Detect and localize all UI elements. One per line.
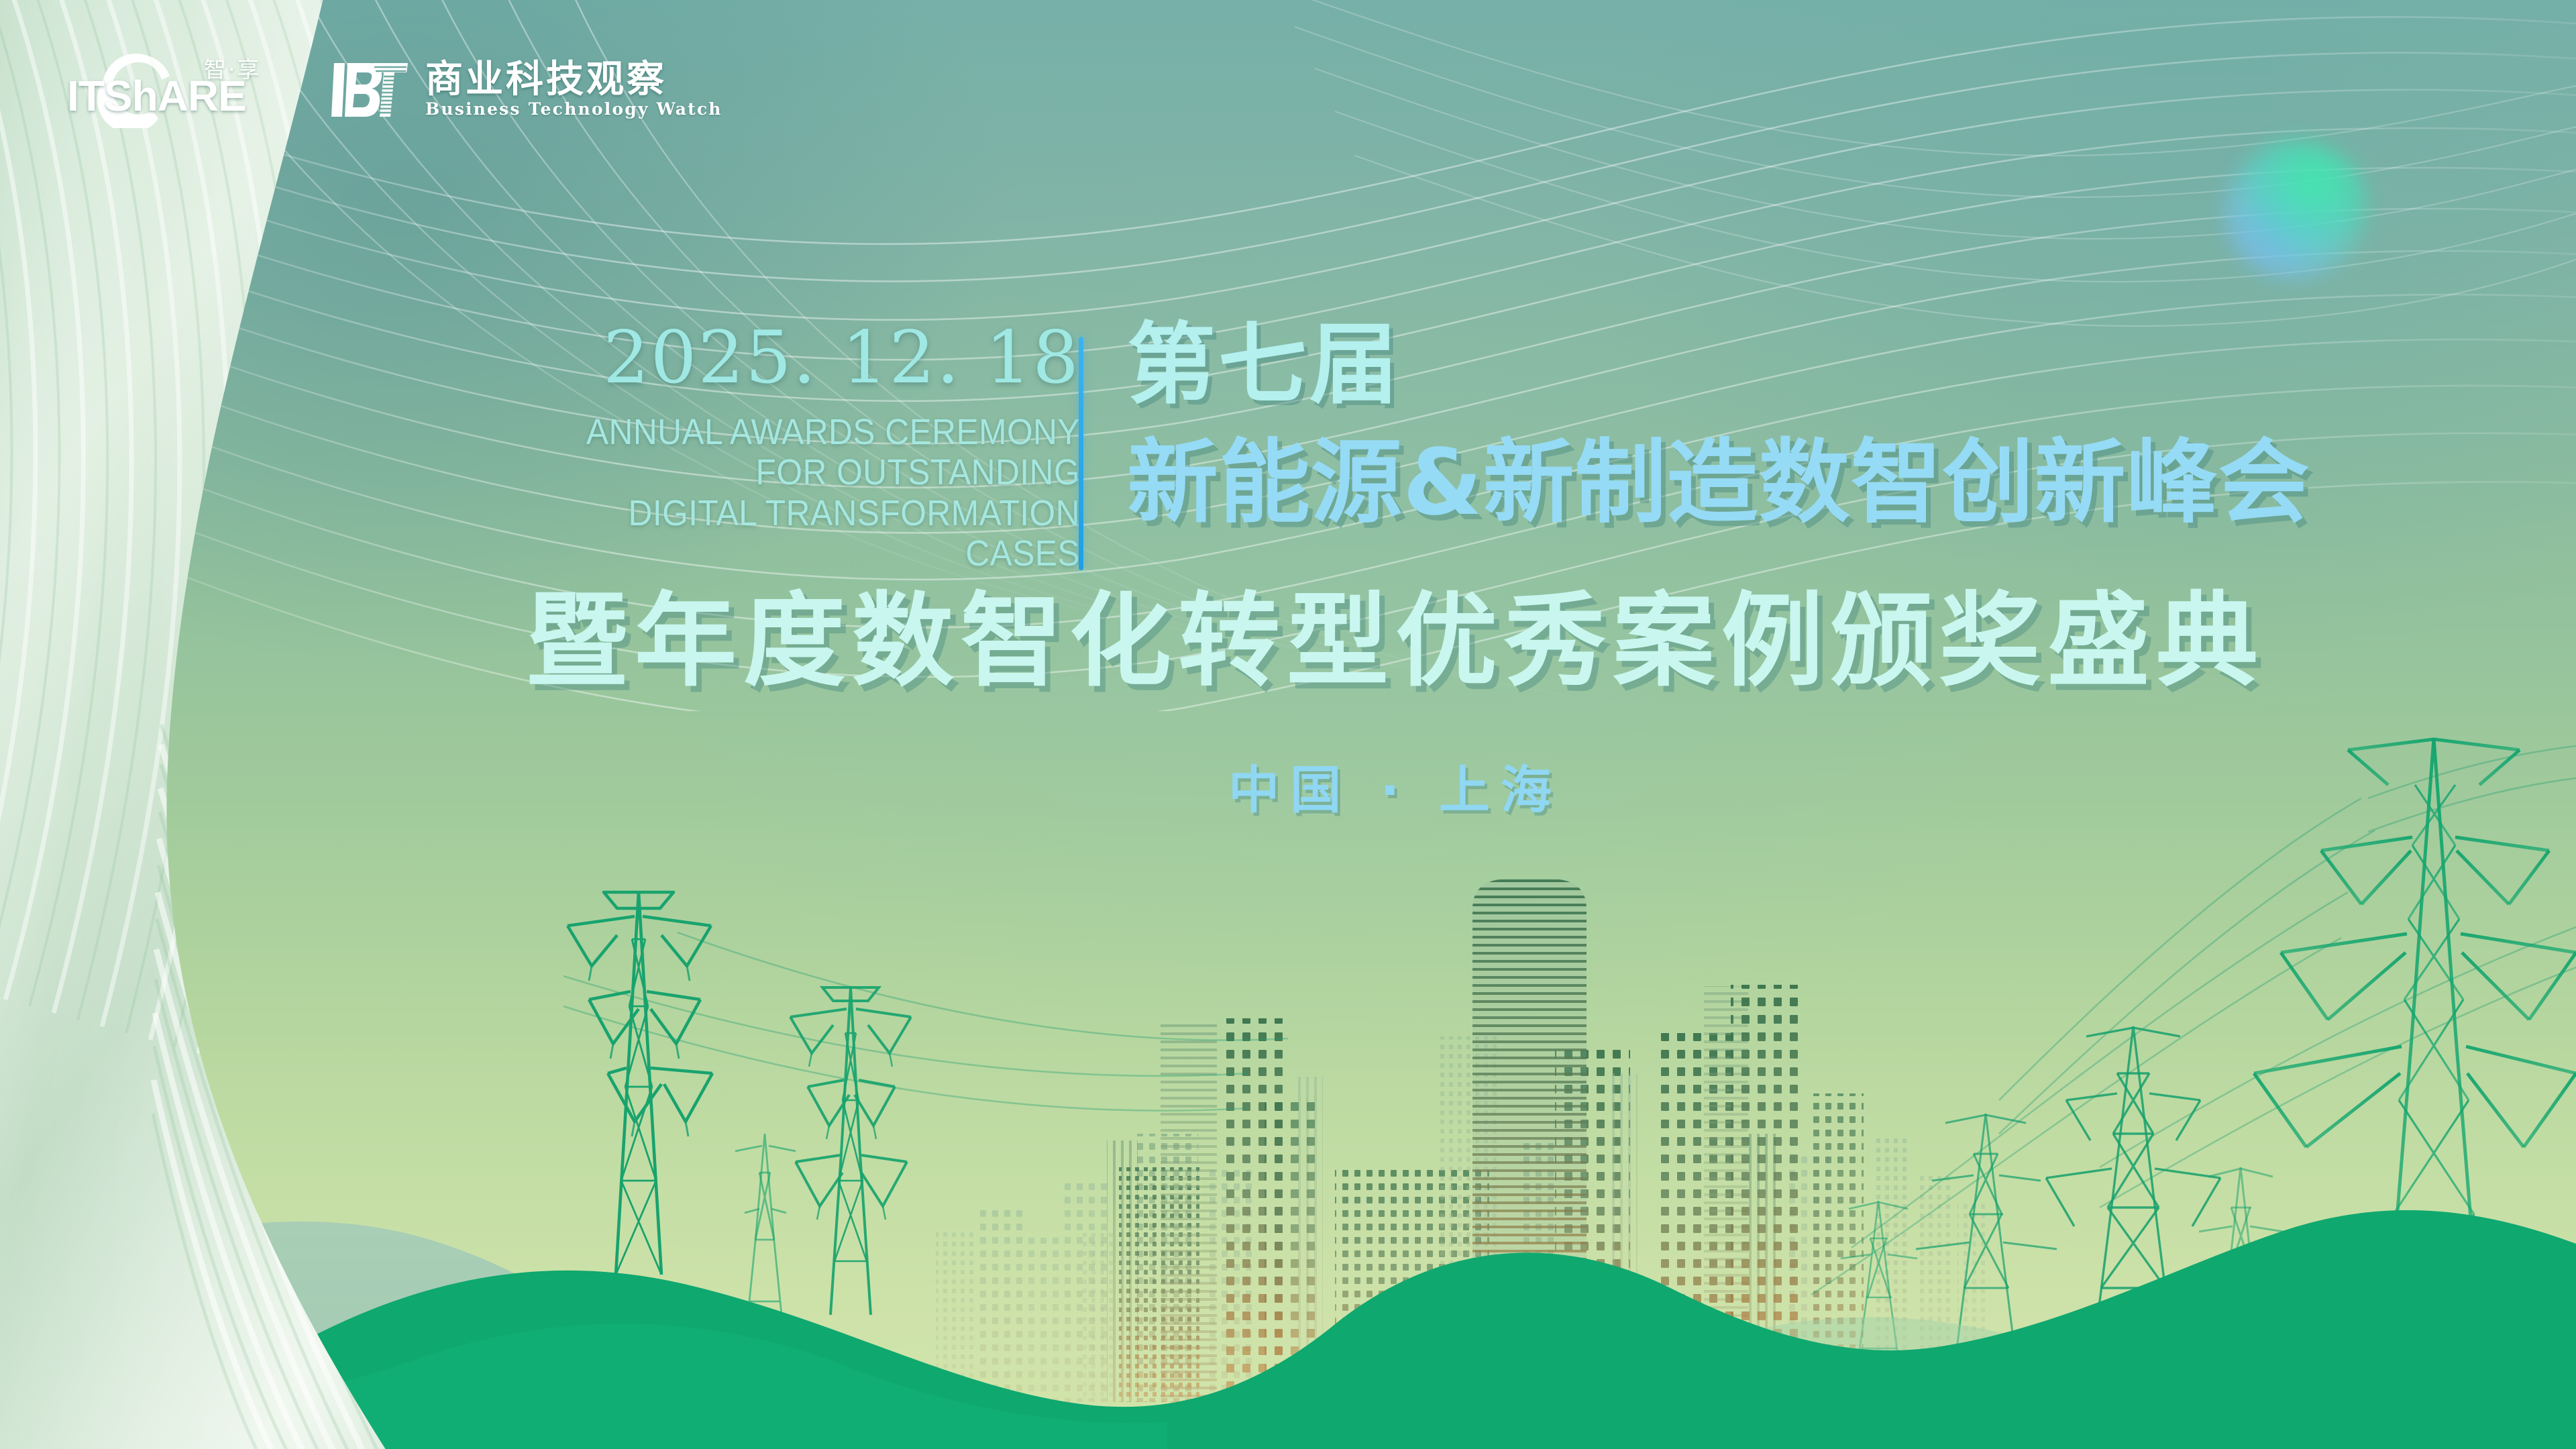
chinese-title-column: 第七届 新能源&新制造数智创新峰会 [1127,321,2310,529]
bt-name-cn: 商业科技观察 [425,60,722,98]
vertical-divider [1079,337,1083,570]
logo-bar: 智·享 ITShARE [72,48,722,129]
event-date: 2025. 12. 18 [476,322,1080,394]
english-subtitle: ANNUAL AWARDS CEREMONY FOR OUTSTANDING D… [525,412,1080,574]
english-subtitle-line-3: DIGITAL TRANSFORMATION CASES [525,493,1080,574]
event-title-main: 新能源&新制造数智创新峰会 [1127,437,2310,529]
event-location: 中国 · 上海 [429,765,2361,816]
event-edition: 第七届 [1127,321,2310,409]
event-title-sub: 暨年度数智化转型优秀案例颁奖盛典 [429,590,2361,692]
date-and-english-column: 2025. 12. 18 ANNUAL AWARDS CEREMONY FOR … [476,322,1080,574]
bt-monogram-icon [331,55,411,122]
bt-name-en: Business Technology Watch [425,101,722,117]
logo-itshare[interactable]: 智·享 ITShARE [72,49,294,128]
english-subtitle-line-2: FOR OUTSTANDING [525,452,1080,492]
event-poster: 智·享 ITShARE [0,0,2576,1449]
logo-bt[interactable]: 商业科技观察 Business Technology Watch [331,48,722,129]
english-subtitle-line-1: ANNUAL AWARDS CEREMONY [525,412,1080,452]
itshare-wordmark: ITShARE [67,74,268,117]
headline-block: 2025. 12. 18 ANNUAL AWARDS CEREMONY FOR … [0,0,2576,1449]
